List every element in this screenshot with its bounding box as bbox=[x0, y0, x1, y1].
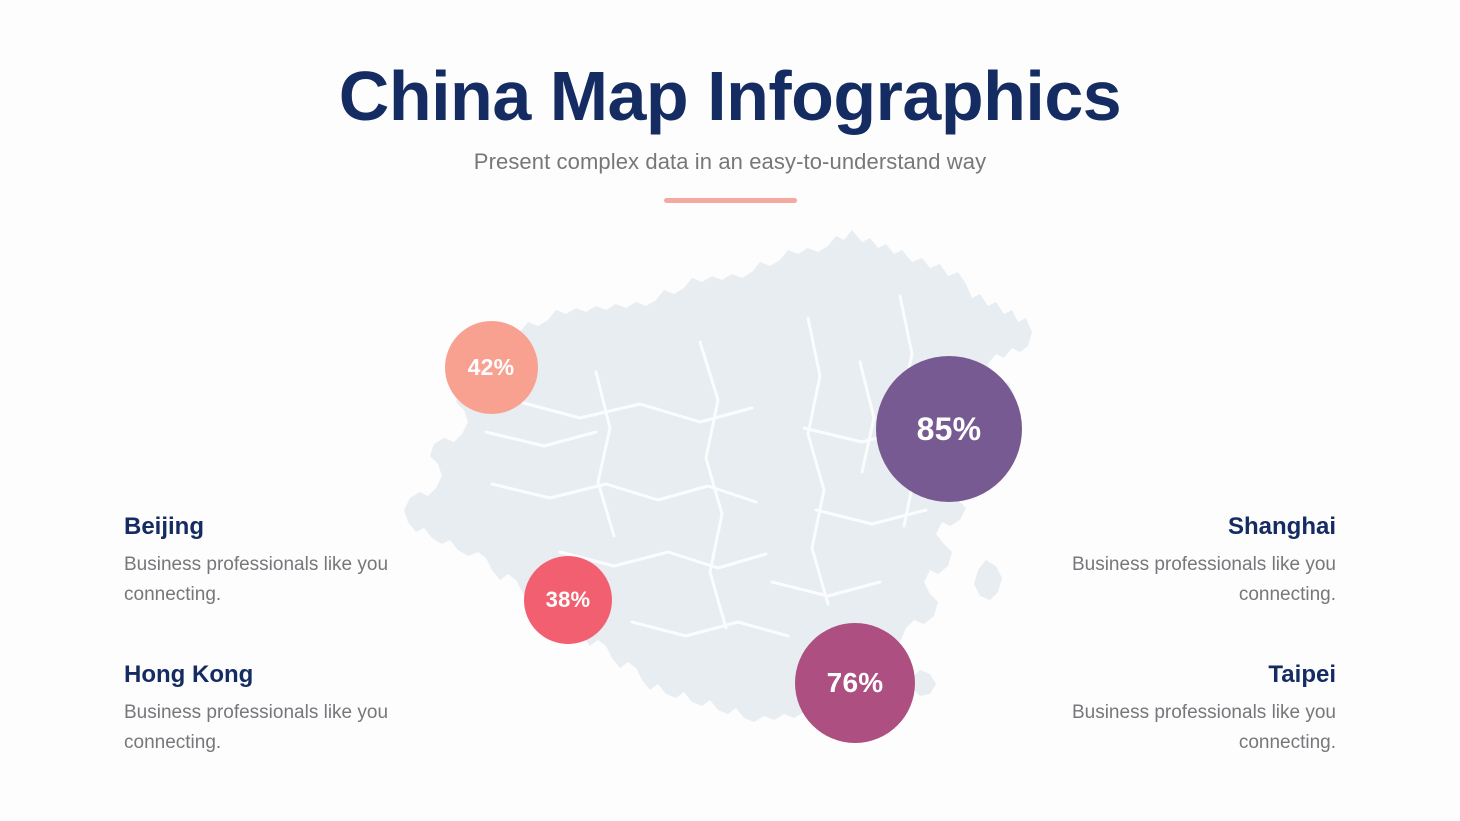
legend-title-taipei: Taipei bbox=[1036, 660, 1336, 690]
legend-right: Shanghai Business professionals like you… bbox=[1036, 512, 1336, 758]
page-title: China Map Infographics bbox=[0, 0, 1460, 134]
header: China Map Infographics Present complex d… bbox=[0, 0, 1460, 203]
legend-item-hong-kong[interactable]: Hong Kong Business professionals like yo… bbox=[124, 660, 424, 758]
legend-title-shanghai: Shanghai bbox=[1036, 512, 1336, 542]
legend-left: Beijing Business professionals like you … bbox=[124, 512, 424, 758]
title-divider bbox=[664, 198, 797, 203]
bubble-hong-kong[interactable]: 38% bbox=[524, 556, 612, 644]
bubble-taipei[interactable]: 76% bbox=[795, 623, 915, 743]
legend-title-beijing: Beijing bbox=[124, 512, 424, 542]
legend-desc-beijing: Business professionals like you connecti… bbox=[124, 550, 424, 610]
legend-desc-taipei: Business professionals like you connecti… bbox=[1036, 698, 1336, 758]
legend-title-hong-kong: Hong Kong bbox=[124, 660, 424, 690]
bubble-shanghai[interactable]: 85% bbox=[876, 356, 1022, 502]
page-subtitle: Present complex data in an easy-to-under… bbox=[0, 134, 1460, 176]
legend-item-shanghai[interactable]: Shanghai Business professionals like you… bbox=[1036, 512, 1336, 610]
legend-desc-hong-kong: Business professionals like you connecti… bbox=[124, 698, 424, 758]
legend-desc-shanghai: Business professionals like you connecti… bbox=[1036, 550, 1336, 610]
bubble-beijing[interactable]: 42% bbox=[445, 321, 538, 414]
legend-item-taipei[interactable]: Taipei Business professionals like you c… bbox=[1036, 660, 1336, 758]
legend-item-beijing[interactable]: Beijing Business professionals like you … bbox=[124, 512, 424, 610]
